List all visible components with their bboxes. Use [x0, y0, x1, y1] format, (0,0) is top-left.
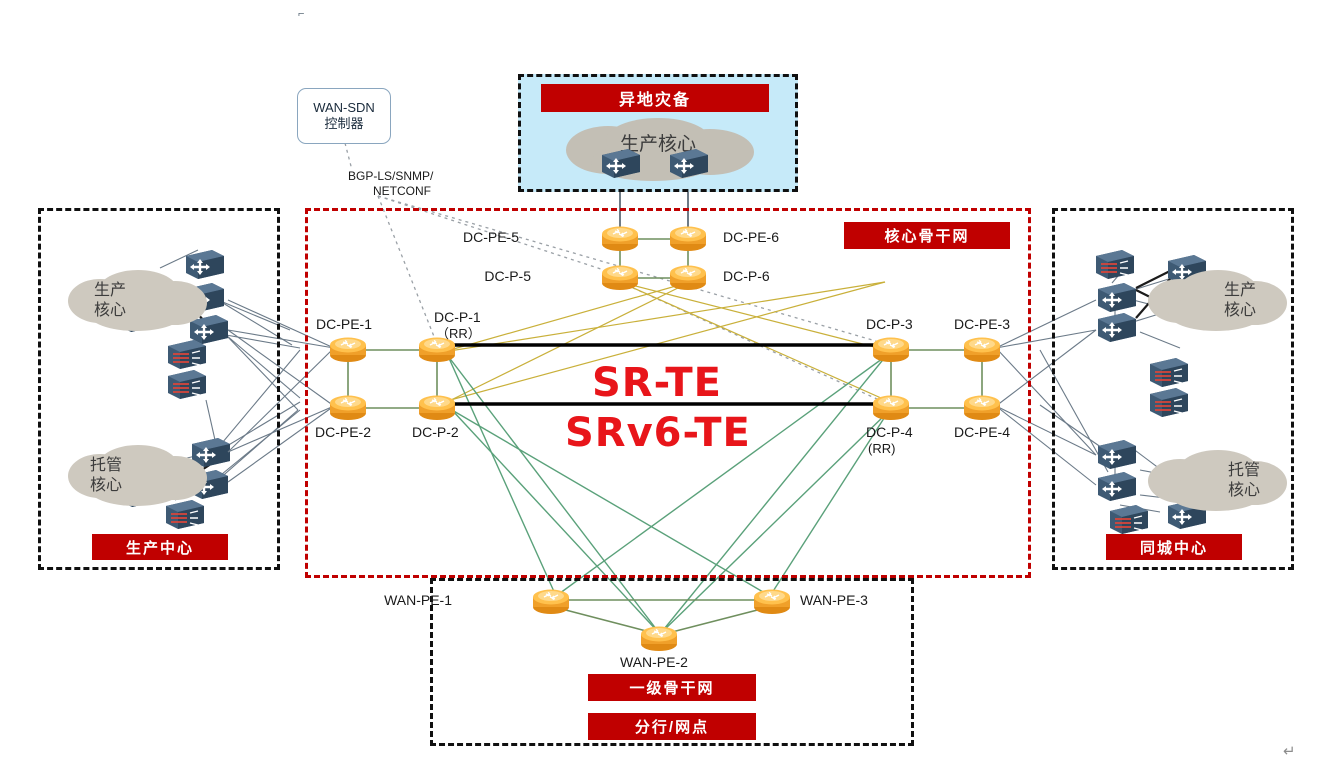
router-dc-p-5[interactable] — [600, 261, 640, 296]
router-label-dc-p-6: DC-P-6 — [723, 269, 770, 285]
badge-production-center: 生产中心 — [92, 534, 228, 560]
svg-text:生产: 生产 — [1224, 280, 1256, 299]
router-dc-p-6[interactable] — [668, 261, 708, 296]
router-label-wan-pe-2: WAN-PE-2 — [620, 655, 688, 671]
router-label-dc-pe-5: DC-PE-5 — [463, 230, 519, 246]
router-wan-pe-2[interactable] — [639, 622, 679, 657]
dr-switch-2 — [669, 148, 709, 185]
svg-text:生产: 生产 — [94, 280, 126, 299]
router-dc-p-4[interactable] — [871, 391, 911, 426]
svg-text:核心: 核心 — [90, 475, 122, 494]
svg-text:托管: 托管 — [1228, 460, 1260, 479]
cloud-right-production-core: 生产 核心 — [1140, 265, 1290, 335]
badge-core-backbone: 核心骨干网 — [844, 222, 1010, 249]
router-label-dc-pe-6: DC-PE-6 — [723, 230, 779, 246]
dr-switch-1 — [601, 148, 641, 185]
svg-text:托管: 托管 — [90, 455, 122, 474]
router-dc-p-2[interactable] — [417, 391, 457, 426]
badge-dr-site: 异地灾备 — [541, 84, 769, 112]
badge-level1-backbone: 一级骨干网 — [588, 674, 756, 701]
top-artifact-mark: ⌐ — [298, 8, 303, 20]
router-label-wan-pe-3: WAN-PE-3 — [800, 593, 868, 609]
badge-branch: 分行/网点 — [588, 713, 756, 740]
router-sublabel-dc-p-4: (RR) — [868, 442, 895, 457]
controller-title-line2: 控制器 — [324, 116, 363, 132]
badge-metro-center: 同城中心 — [1106, 534, 1242, 560]
router-label-dc-pe-2: DC-PE-2 — [315, 425, 371, 441]
cloud-right-hosted-core: 托管 核心 — [1140, 445, 1290, 515]
router-wan-pe-3[interactable] — [752, 585, 792, 620]
diagram-canvas: ⌐ — [0, 0, 1338, 783]
router-label-dc-p-5: DC-P-5 — [484, 269, 531, 285]
router-wan-pe-1[interactable] — [531, 585, 571, 620]
control-protocol-label-line2: NETCONF — [373, 185, 431, 198]
router-sublabel-dc-p-1: （RR） — [436, 327, 481, 342]
return-mark: ↵ — [1283, 742, 1296, 760]
srte-label: SR-TE — [592, 360, 722, 406]
router-label-dc-p-4: DC-P-4 — [866, 425, 913, 441]
zone-metro-center — [1052, 208, 1294, 570]
svg-text:核心: 核心 — [1228, 480, 1260, 499]
router-label-dc-pe-3: DC-PE-3 — [954, 317, 1010, 333]
srv6te-label: SRv6-TE — [565, 410, 751, 456]
router-dc-pe-3[interactable] — [962, 333, 1002, 368]
router-label-wan-pe-1: WAN-PE-1 — [384, 593, 452, 609]
controller-title-line1: WAN-SDN — [313, 100, 375, 116]
router-dc-pe-4[interactable] — [962, 391, 1002, 426]
cloud-dr-production-core: 生产核心 — [548, 118, 768, 182]
svg-text:核心: 核心 — [1224, 300, 1256, 319]
router-dc-pe-6[interactable] — [668, 222, 708, 257]
wan-sdn-controller[interactable]: WAN-SDN 控制器 — [297, 88, 391, 144]
router-dc-pe-5[interactable] — [600, 222, 640, 257]
router-label-dc-p-2: DC-P-2 — [412, 425, 459, 441]
router-label-dc-pe-1: DC-PE-1 — [316, 317, 372, 333]
router-label-dc-pe-4: DC-PE-4 — [954, 425, 1010, 441]
router-dc-pe-2[interactable] — [328, 391, 368, 426]
svg-text:核心: 核心 — [94, 300, 126, 319]
control-protocol-label-line1: BGP-LS/SNMP/ — [348, 170, 433, 183]
router-dc-p-3[interactable] — [871, 333, 911, 368]
router-dc-pe-1[interactable] — [328, 333, 368, 368]
cloud-left-hosted-core: 托管 核心 — [60, 440, 210, 510]
cloud-left-production-core: 生产 核心 — [60, 265, 210, 335]
zone-production-center — [38, 208, 280, 570]
router-label-dc-p-1: DC-P-1 — [434, 310, 481, 326]
router-label-dc-p-3: DC-P-3 — [866, 317, 913, 333]
